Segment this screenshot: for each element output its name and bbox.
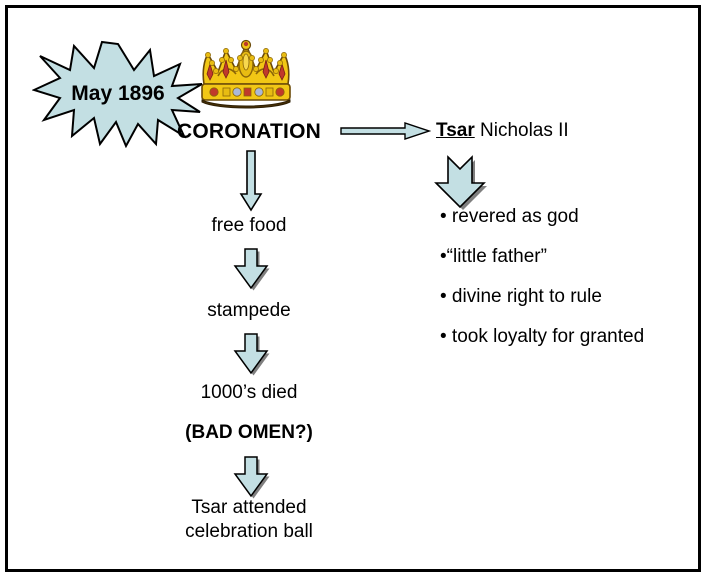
- arrow-stampede-down: [230, 331, 274, 377]
- chain-step-ball-line1: Tsar attended: [191, 497, 306, 519]
- burst-label: May 1896: [32, 82, 204, 106]
- slide-canvas: May 1896: [0, 0, 712, 583]
- arrow-coronation-to-tsar: [339, 120, 431, 142]
- list-item: • revered as god: [440, 206, 644, 228]
- arrow-free-food-down: [230, 246, 274, 292]
- list-item: •“little father”: [440, 246, 644, 268]
- arrow-coronation-down: [238, 150, 264, 212]
- page-title: CORONATION: [177, 120, 321, 144]
- chain-step-deaths: 1000’s died: [201, 382, 298, 404]
- list-item: • took loyalty for granted: [440, 326, 644, 348]
- tsar-label: Tsar: [436, 120, 475, 141]
- chain-step-free-food: free food: [212, 215, 287, 237]
- tsar-heading: Tsar Nicholas II: [436, 120, 569, 142]
- chain-step-bad-omen: (BAD OMEN?): [185, 422, 313, 444]
- chain-step-ball-line2: celebration ball: [185, 521, 313, 543]
- arrow-omen-down: [230, 454, 274, 500]
- arrow-tsar-down: [432, 153, 490, 211]
- crown-icon: [196, 38, 296, 118]
- chain-step-stampede: stampede: [207, 300, 290, 322]
- tsar-attributes-list: • revered as god •“little father” • divi…: [440, 206, 644, 366]
- list-item: • divine right to rule: [440, 286, 644, 308]
- tsar-name: Nicholas II: [475, 120, 569, 141]
- slide-frame-border: May 1896: [5, 5, 701, 572]
